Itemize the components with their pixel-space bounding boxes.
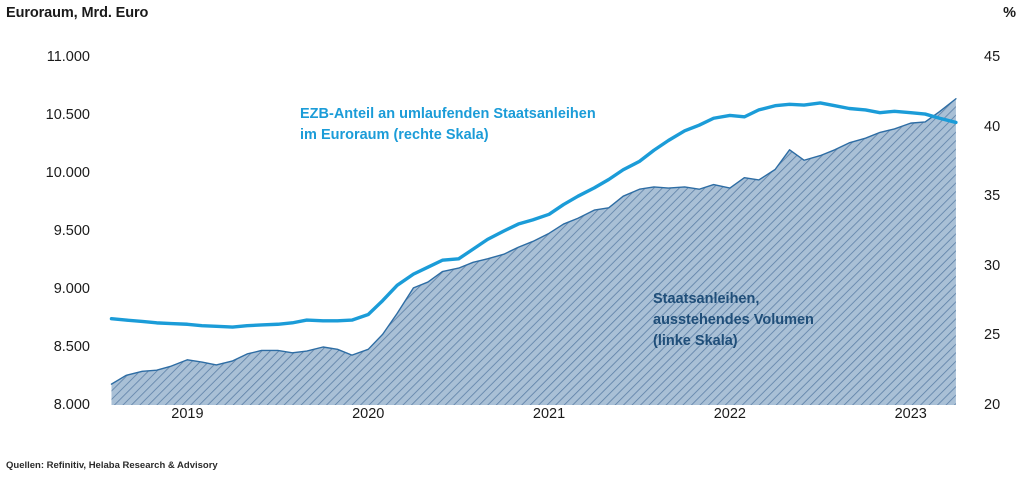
left-axis-tick-label: 10.500 [4, 107, 90, 123]
right-axis-tick-label: 25 [984, 327, 1000, 343]
right-axis-tick-label: 40 [984, 119, 1000, 135]
left-axis-tick-label: 11.000 [4, 49, 90, 65]
left-axis-tick-label: 10.000 [4, 165, 90, 181]
x-axis: 20192020202120222023 [97, 406, 974, 430]
right-axis-tick-label: 35 [984, 188, 1000, 204]
x-axis-tick-label: 2021 [533, 406, 565, 422]
right-axis: 202530354045 [984, 57, 1024, 405]
x-axis-tick-label: 2023 [895, 406, 927, 422]
right-axis-unit-label: % [1003, 5, 1016, 21]
x-axis-tick-label: 2020 [352, 406, 384, 422]
left-axis-tick-label: 8.000 [4, 397, 90, 413]
right-axis-tick-label: 20 [984, 397, 1000, 413]
x-axis-tick-label: 2019 [171, 406, 203, 422]
left-axis: 8.0008.5009.0009.50010.00010.50011.000 [0, 57, 90, 405]
right-axis-tick-label: 45 [984, 49, 1000, 65]
x-axis-tick-label: 2022 [714, 406, 746, 422]
left-axis-tick-label: 8.500 [4, 339, 90, 355]
left-axis-tick-label: 9.500 [4, 223, 90, 239]
annotation-line-series: EZB-Anteil an umlaufenden Staatsanleihen… [300, 104, 596, 146]
page-title: Euroraum, Mrd. Euro [6, 5, 148, 21]
left-axis-tick-label: 9.000 [4, 281, 90, 297]
source-note: Quellen: Refinitiv, Helaba Research & Ad… [6, 460, 218, 471]
right-axis-tick-label: 30 [984, 258, 1000, 274]
annotation-area-series: Staatsanleihen, ausstehendes Volumen (li… [653, 289, 814, 352]
